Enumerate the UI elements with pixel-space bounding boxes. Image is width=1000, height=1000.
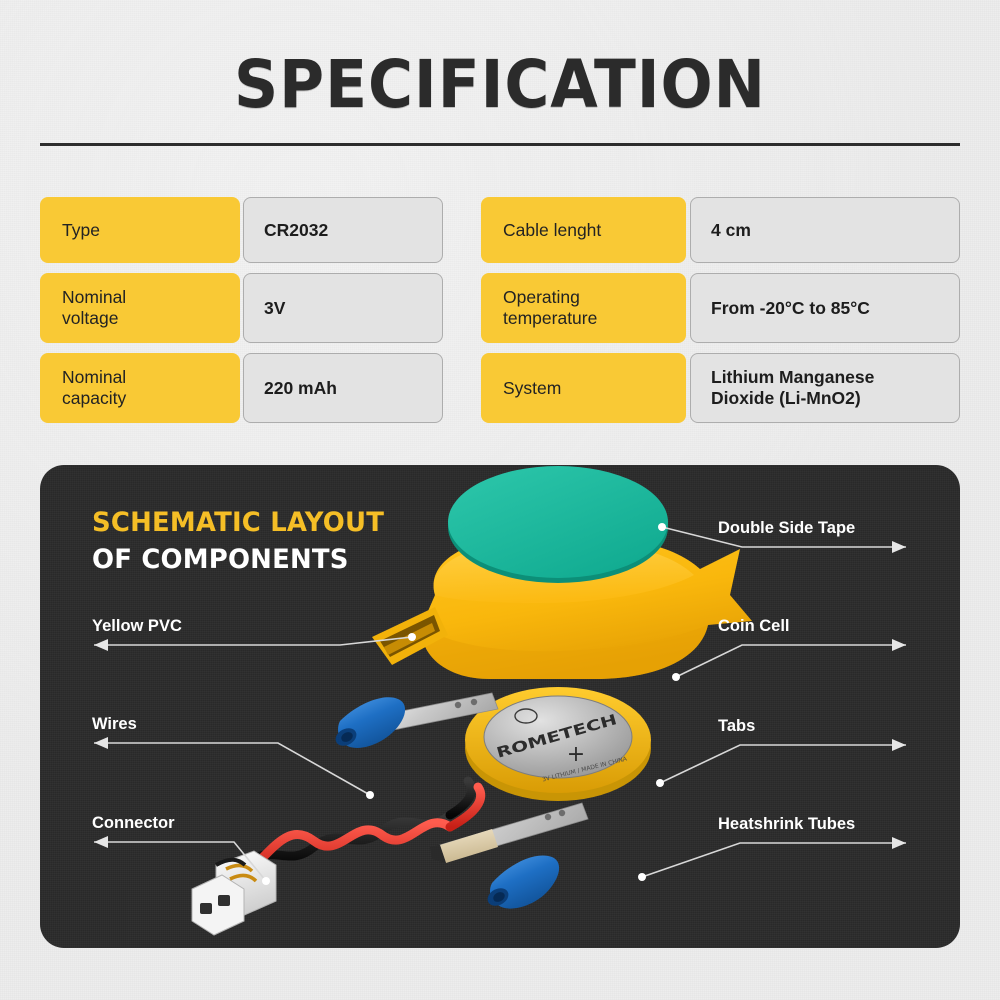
spec-key-operating-temperature: Operatingtemperature xyxy=(481,273,686,343)
schematic-panel: SCHEMATIC LAYOUT OF COMPONENTS xyxy=(40,465,960,948)
spec-key-type: Type xyxy=(40,197,240,263)
leader-dot xyxy=(656,779,664,787)
spec-row: Cable lenght 4 cm xyxy=(481,197,960,263)
title-divider xyxy=(40,143,960,146)
arrowhead-left xyxy=(94,737,108,749)
spec-value-type: CR2032 xyxy=(243,197,443,263)
spec-row: Nominalcapacity 220 mAh xyxy=(40,353,443,423)
arrowhead-left xyxy=(94,639,108,651)
arrowhead-left xyxy=(94,836,108,848)
leader-wires xyxy=(94,743,370,795)
spec-row: Type CR2032 xyxy=(40,197,443,263)
spec-column-right: Cable lenght 4 cm Operatingtemperature F… xyxy=(481,197,960,433)
callout-wires: Wires xyxy=(92,715,137,734)
spec-column-left: Type CR2032 Nominalvoltage 3V Nominalcap… xyxy=(40,197,443,433)
leader-heatshrink-tubes xyxy=(642,843,906,877)
arrowhead-right xyxy=(892,541,906,553)
spec-row: System Lithium ManganeseDioxide (Li-MnO2… xyxy=(481,353,960,423)
spec-value-system: Lithium ManganeseDioxide (Li-MnO2) xyxy=(690,353,960,423)
leader-tabs xyxy=(660,745,906,783)
callout-tabs: Tabs xyxy=(718,717,755,736)
arrowhead-right xyxy=(892,739,906,751)
spec-row: Operatingtemperature From -20°C to 85°C xyxy=(481,273,960,343)
leader-connector xyxy=(94,842,266,881)
callout-connector: Connector xyxy=(92,814,175,833)
leader-dot xyxy=(366,791,374,799)
leader-yellow-pvc xyxy=(94,637,412,645)
arrowhead-right xyxy=(892,837,906,849)
callout-heatshrink-tubes: Heatshrink Tubes xyxy=(718,815,855,834)
spec-key-nominal-voltage: Nominalvoltage xyxy=(40,273,240,343)
leader-dot xyxy=(638,873,646,881)
spec-value-operating-temperature: From -20°C to 85°C xyxy=(690,273,960,343)
spec-value-nominal-voltage: 3V xyxy=(243,273,443,343)
arrowhead-right xyxy=(892,639,906,651)
leader-dot xyxy=(262,877,270,885)
spec-key-nominal-capacity: Nominalcapacity xyxy=(40,353,240,423)
schematic-heading-line1: SCHEMATIC LAYOUT xyxy=(92,507,384,538)
callout-yellow-pvc: Yellow PVC xyxy=(92,617,182,636)
spec-value-nominal-capacity: 220 mAh xyxy=(243,353,443,423)
leader-dot xyxy=(408,633,416,641)
leader-dot xyxy=(672,673,680,681)
leader-coin-cell xyxy=(676,645,906,677)
callout-double-side-tape: Double Side Tape xyxy=(718,519,855,538)
page-title: SPECIFICATION xyxy=(35,46,965,123)
schematic-heading: SCHEMATIC LAYOUT OF COMPONENTS xyxy=(92,507,396,575)
schematic-heading-line2: OF COMPONENTS xyxy=(92,544,384,575)
callout-coin-cell: Coin Cell xyxy=(718,617,790,636)
spec-key-system: System xyxy=(481,353,686,423)
spec-key-cable-length: Cable lenght xyxy=(481,197,686,263)
spec-row: Nominalvoltage 3V xyxy=(40,273,443,343)
specification-page: SPECIFICATION Type CR2032 Nominalvoltage… xyxy=(0,0,1000,1000)
spec-value-cable-length: 4 cm xyxy=(690,197,960,263)
leader-dot xyxy=(658,523,666,531)
